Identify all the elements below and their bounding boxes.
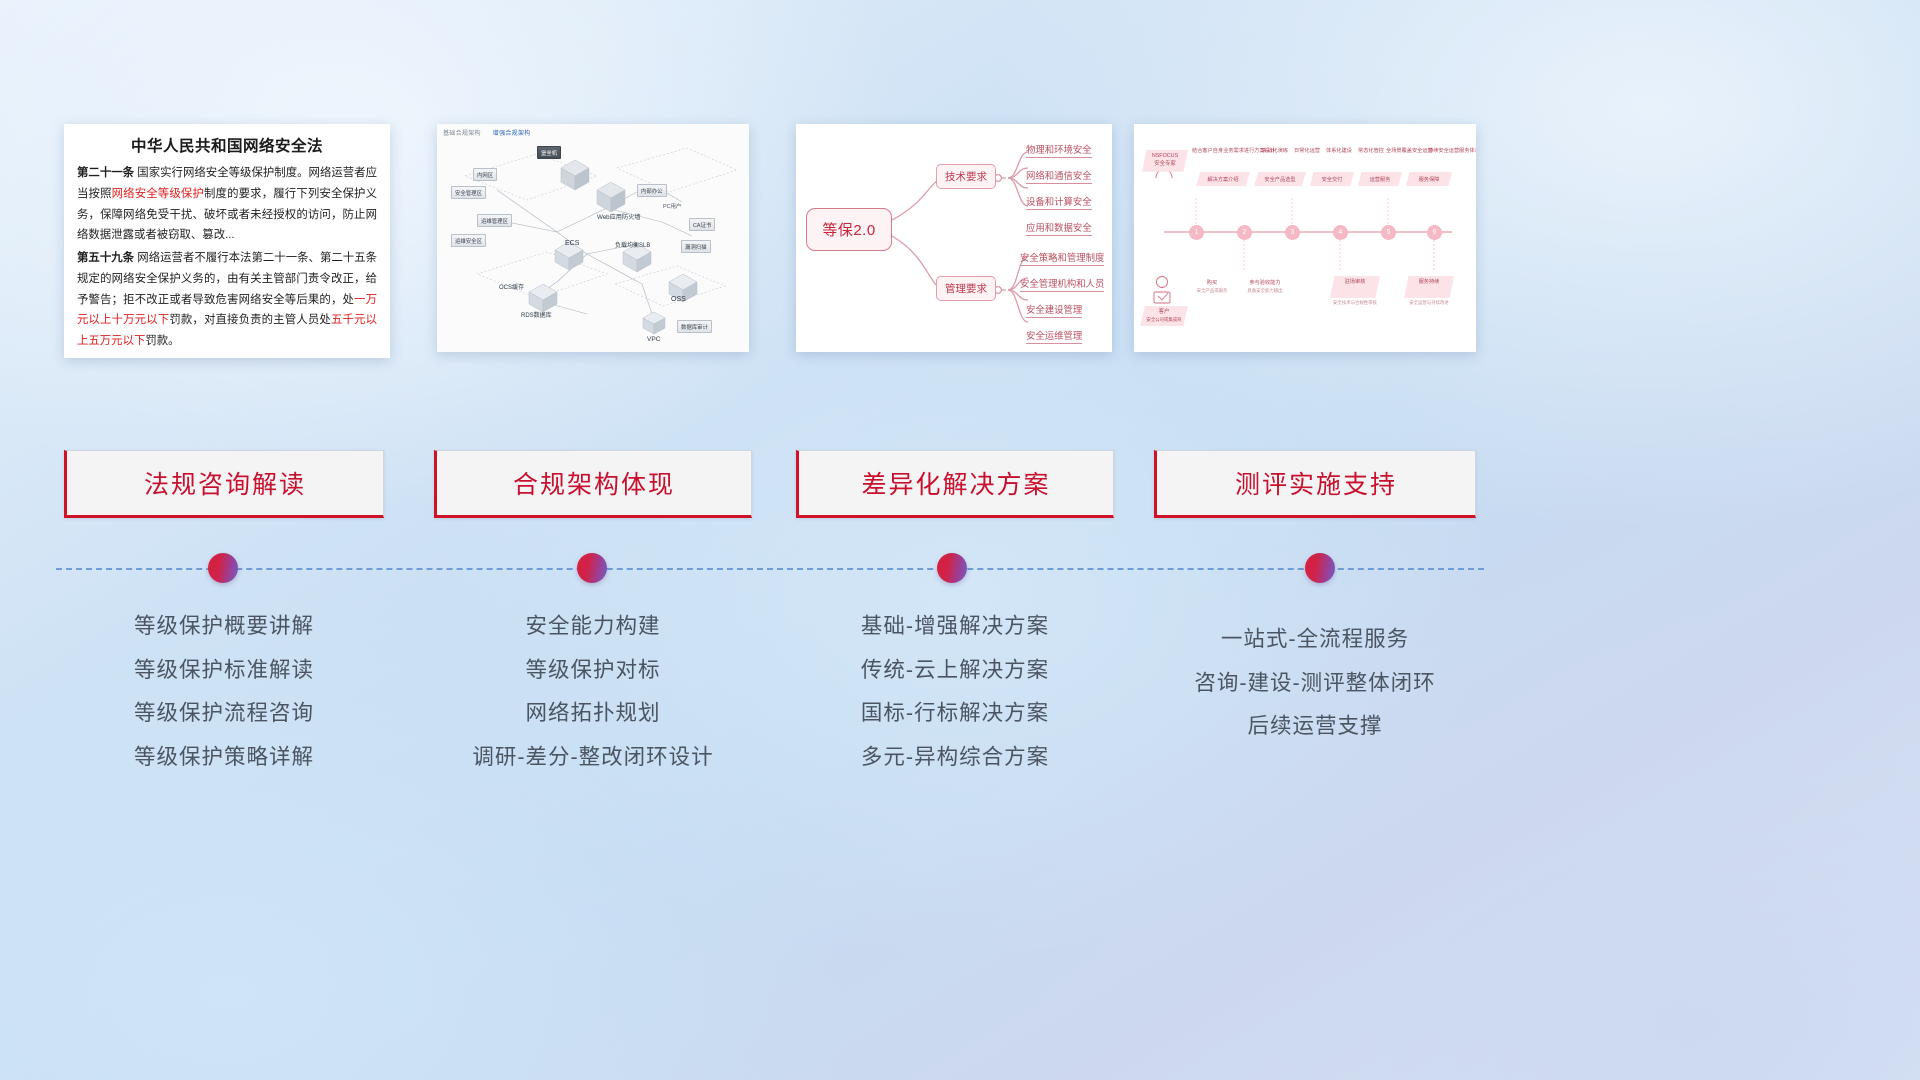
chevron-delivery: 安全交付 [1310,172,1354,186]
feature-list-3: 基础-增强解决方案 传统-云上解决方案 国标-行标解决方案 多元-异构综合方案 [796,605,1114,779]
list-item: 多元-异构综合方案 [796,736,1114,780]
title-label-4: 测评实施支持 [1235,465,1397,501]
label-vpc: VPC [647,336,661,343]
customer-label: 客户 [1145,309,1183,317]
list-item: 等级保护流程咨询 [64,692,384,736]
note-systematic-build: 体系化建设 [1322,148,1356,156]
list-item: 调研-差分-整改闭环设计 [434,736,752,780]
tag-onsite-audit-title: 驻场审核 [1330,279,1380,287]
list-item: 基础-增强解决方案 [796,605,1114,649]
nsfocus-expert-badge: NSFOCUS 安全专家 [1142,150,1188,172]
list-item: 后续运营支撑 [1154,705,1476,749]
article-59-text-b: 罚款，对直接负责的主管人员处 [169,314,331,326]
list-item: 国标-行标解决方案 [796,692,1114,736]
tag-service-title: 服务持续 [1404,279,1454,287]
title-box-compliance-architecture[interactable]: 合规架构体现 [434,450,752,518]
label-slb: 负载均衡SLB [615,240,650,249]
tag-onsite-audit-note: 安全技术与合规性审核 [1322,300,1388,307]
node-cloud-security: 内部办公 [637,184,667,197]
mindmap-leaf-network-comm: 网络和通信安全 [1026,168,1092,184]
architecture-canvas: 基础合规架构 增强合规架构 [437,124,749,352]
mindmap-leaf-ops-mgmt: 安全运维管理 [1026,328,1082,344]
timeline-dashed-line [56,568,1484,570]
step-dot-6: 6 [1427,225,1442,240]
timeline-dot-4 [1305,553,1335,583]
preview-cards-row: 中华人民共和国网络安全法 第二十一条 国家实行网络安全等级保护制度。网络运营者应… [0,124,1920,364]
chevron-operations: 运营服务 [1358,172,1402,186]
note-continuous-ops: 持续安全运营服务体系建设与优化 [1428,148,1474,156]
list-item: 传统-云上解决方案 [796,649,1114,693]
node-vuln-scan: 漏洞扫描 [681,240,711,253]
step-dot-3: 3 [1285,225,1300,240]
chevron-solution-intro: 解决方案介绍 [1196,172,1250,186]
tag-service-sub: 安全运营与持续改进 [1396,300,1462,307]
tag-purchase-title: 购买 [1192,280,1232,288]
tag-acceptance: 参与验收能力 具备安全能力输出 [1238,280,1292,294]
step-dot-4: 4 [1333,225,1348,240]
list-item: 一站式-全流程服务 [1154,618,1476,662]
label-ocs: OCS缓存 [499,282,524,291]
tag-onsite-audit-sub: 安全技术与合规性审核 [1322,300,1388,307]
tag-onsite-audit: 驻场审核 [1330,279,1380,287]
card-nsfocus-timeline[interactable]: NSFOCUS 安全专家 解决方案介绍 安全产品选型 安全交付 运营服务 服务保… [1134,124,1476,352]
chevron-product-select: 安全产品选型 [1254,172,1306,186]
timeline-dot-2 [577,553,607,583]
step-dot-1: 1 [1189,225,1204,240]
mindmap-leaf-policy-system: 安全策略和管理制度 [1020,250,1104,266]
feature-list-1: 等级保护概要讲解 等级保护标准解读 等级保护流程咨询 等级保护策略详解 [64,605,384,779]
card-architecture-diagram[interactable]: 基础合规架构 增强合规架构 [437,124,749,352]
mindmap-branch-technical: 技术要求 [936,164,996,189]
title-box-regulation-consulting[interactable]: 法规咨询解读 [64,450,384,518]
mindmap-branch-management: 管理要求 [936,276,996,301]
note-full-scenario: 全场景覆盖安全运营 [1386,148,1430,156]
list-item: 安全能力构建 [434,605,752,649]
node-intranet-zone: 内网区 [473,168,497,181]
mindmap-leaf-org-personnel: 安全管理机构和人员 [1020,276,1104,292]
law-article-59: 第五十九条 网络运营者不履行本法第二十一条、第二十五条规定的网络安全保护义务的，… [77,248,377,352]
step-dot-5: 5 [1381,225,1396,240]
article-21-label: 第二十一条 [77,167,134,179]
title-boxes-row: 法规咨询解读 合规架构体现 差异化解决方案 测评实施支持 [0,450,1920,520]
customer-sub-label: 安全公司或集成商 [1145,317,1183,323]
nsfocus-brand-label: NSFOCUS [1147,153,1183,161]
feature-list-2: 安全能力构建 等级保护对标 网络拓扑规划 调研-差分-整改闭环设计 [434,605,752,779]
tag-purchase-sub: 安全产品或服务 [1192,288,1232,295]
law-body: 中华人民共和国网络安全法 第二十一条 国家实行网络安全等级保护制度。网络运营者应… [64,124,390,358]
card-mindmap-dengbao[interactable]: 等保2.0 技术要求 管理要求 物理和环境安全 网络和通信安全 设备和计算安全 … [796,124,1112,352]
list-item: 等级保护标准解读 [64,649,384,693]
title-box-assessment-support[interactable]: 测评实施支持 [1154,450,1476,518]
note-drill: 实战化演练 [1258,148,1292,156]
chevron-service-support: 服务保障 [1406,172,1452,186]
card-law-document[interactable]: 中华人民共和国网络安全法 第二十一条 国家实行网络安全等级保护制度。网络运营者应… [64,124,390,358]
tag-purchase: 购买 安全产品或服务 [1192,280,1232,294]
article-59-label: 第五十九条 [77,252,134,264]
slide-canvas: 中华人民共和国网络安全法 第二十一条 国家实行网络安全等级保护制度。网络运营者应… [0,0,1920,1080]
title-label-1: 法规咨询解读 [144,465,306,501]
mindmap-leaf-device-compute: 设备和计算安全 [1026,194,1092,210]
article-21-highlight: 网络安全等级保护 [112,188,204,200]
note-requirement-design: 结合客户自身业务需求进行方案设计 [1192,148,1256,156]
node-bastion-host: 堡垒机 [537,146,561,159]
label-ecs: ECS [565,240,579,247]
tag-service: 服务持续 [1404,279,1454,287]
tag-acceptance-title: 参与验收能力 [1238,280,1292,288]
nsfocus-canvas: NSFOCUS 安全专家 解决方案介绍 安全产品选型 安全交付 运营服务 服务保… [1134,124,1476,352]
list-item: 等级保护概要讲解 [64,605,384,649]
node-security-mgmt-zone: 安全管理区 [451,186,486,199]
node-ops-mgmt-zone: 运维管理区 [477,214,512,227]
law-title: 中华人民共和国网络安全法 [77,134,377,156]
timeline-dot-3 [937,553,967,583]
tag-service-note: 安全运营与持续改进 [1396,300,1462,307]
label-pc-user: PC用户 [663,202,681,210]
mindmap-leaf-app-data: 应用和数据安全 [1026,220,1092,236]
node-db-audit: 数据库审计 [677,320,712,333]
list-item: 咨询-建设-测评整体闭环 [1154,662,1476,706]
customer-badge: 客户 安全公司或集成商 [1140,306,1188,326]
node-ca-certificate: CA证书 [689,218,715,231]
list-item: 等级保护对标 [434,649,752,693]
mindmap-leaf-construction-mgmt: 安全建设管理 [1026,302,1082,318]
list-item: 等级保护策略详解 [64,736,384,780]
title-box-differentiated-solution[interactable]: 差异化解决方案 [796,450,1114,518]
step-dot-2: 2 [1237,225,1252,240]
title-label-3: 差异化解决方案 [861,465,1050,501]
note-normalized-control: 常态化管控 [1354,148,1388,156]
law-article-21: 第二十一条 国家实行网络安全等级保护制度。网络运营者应当按照网络安全等级保护制度… [77,163,377,246]
timeline-dot-1 [208,553,238,583]
label-waf: Web应用防火墙 [597,212,641,221]
tag-acceptance-sub: 具备安全能力输出 [1238,288,1292,295]
node-ops-security-zone: 运维安全区 [451,234,486,247]
feature-list-4: 一站式-全流程服务 咨询-建设-测评整体闭环 后续运营支撑 [1154,618,1476,749]
title-label-2: 合规架构体现 [513,465,675,501]
mindmap-leaf-physical-env: 物理和环境安全 [1026,142,1092,158]
list-item: 网络拓扑规划 [434,692,752,736]
label-oss: OSS [671,296,686,303]
note-daily-ops: 日常化运营 [1290,148,1324,156]
mindmap-canvas: 等保2.0 技术要求 管理要求 物理和环境安全 网络和通信安全 设备和计算安全 … [796,124,1112,352]
nsfocus-expert-label: 安全专家 [1147,161,1183,169]
mindmap-root-node: 等保2.0 [806,208,892,251]
label-rds: RDS数据库 [521,310,552,319]
article-59-text-c: 罚款。 [145,335,179,347]
